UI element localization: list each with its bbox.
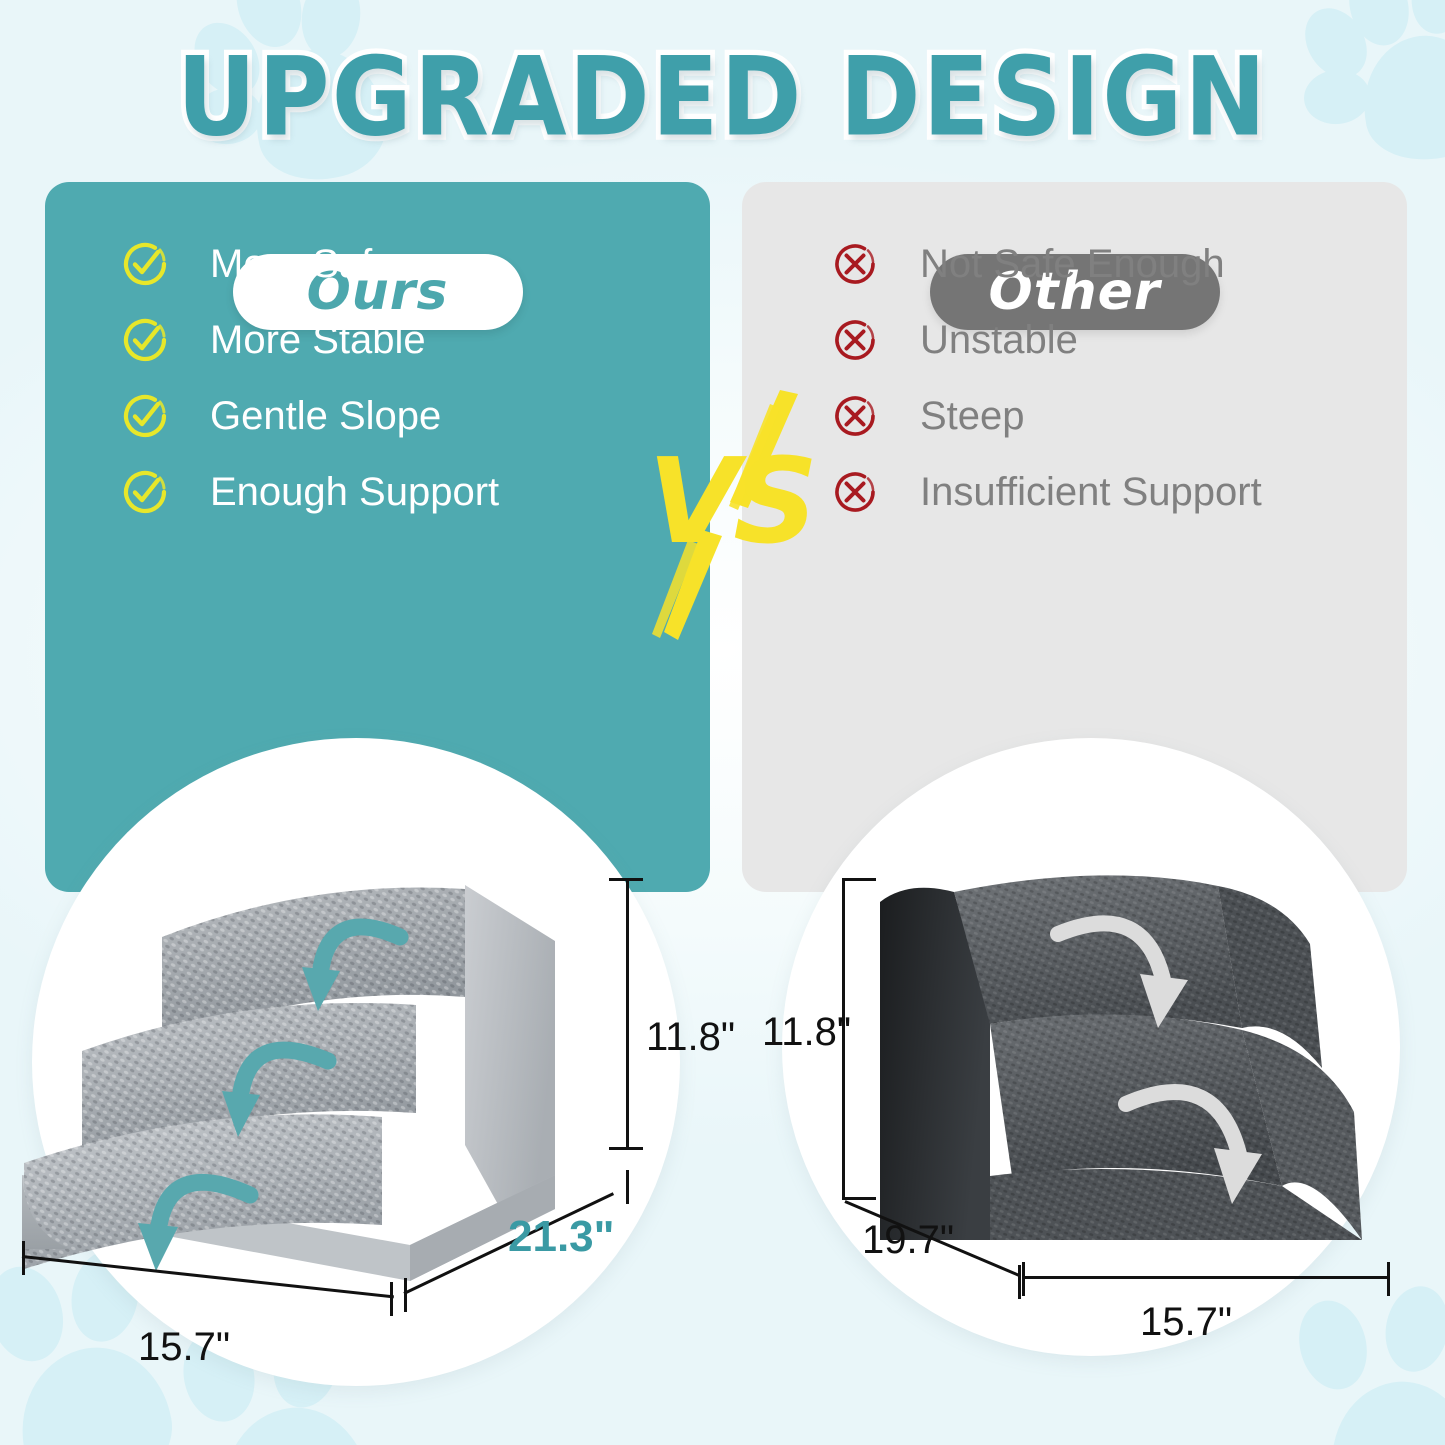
dimension-tick	[390, 1282, 393, 1316]
feature-item-not-safe-enough: Not Safe Enough	[830, 238, 1262, 290]
cross-circle-icon	[830, 239, 880, 289]
check-circle-icon	[120, 315, 170, 365]
feature-label: Gentle Slope	[210, 394, 441, 439]
dimension-label-width-ours: 15.7"	[138, 1325, 230, 1370]
dimension-tick	[1022, 1262, 1025, 1296]
dimension-label-width-other: 15.7"	[1140, 1300, 1232, 1345]
dimension-label-depth-ours: 21.3"	[508, 1212, 615, 1262]
feature-label: More Safe	[210, 242, 395, 287]
dimension-rule-width-other	[1022, 1276, 1390, 1279]
dimension-tick	[1387, 1262, 1390, 1296]
infographic-canvas: UPGRADED DESIGN Ours More Safe	[0, 0, 1445, 1445]
dimension-tick	[22, 1241, 25, 1275]
feature-item-more-safe: More Safe	[120, 238, 499, 290]
cross-circle-icon	[830, 391, 880, 441]
feature-label: Steep	[920, 394, 1025, 439]
paw-print-decoration-bottom-right	[1270, 1290, 1445, 1445]
feature-label: Enough Support	[210, 470, 499, 515]
feature-list-other: Not Safe Enough Unstable Steep	[830, 238, 1262, 518]
dimension-tick	[842, 1197, 876, 1200]
cross-circle-icon	[830, 315, 880, 365]
dimension-tick	[626, 1170, 629, 1204]
feature-label: More Stable	[210, 318, 426, 363]
dimension-tick	[404, 1278, 407, 1312]
dimension-label-height-ours: 11.8"	[646, 1015, 735, 1060]
feature-item-gentle-slope: Gentle Slope	[120, 390, 499, 442]
feature-item-unstable: Unstable	[830, 314, 1262, 366]
dimension-label-height-other: 11.8"	[762, 1010, 851, 1055]
dimension-tick	[609, 1147, 643, 1150]
dimension-tick	[1018, 1265, 1021, 1299]
dimension-label-depth-other: 19.7"	[862, 1218, 954, 1263]
feature-label: Not Safe Enough	[920, 242, 1225, 287]
dimension-tick	[609, 878, 643, 881]
feature-item-steep: Steep	[830, 390, 1262, 442]
check-circle-icon	[120, 391, 170, 441]
feature-label: Insufficient Support	[920, 470, 1262, 515]
check-circle-icon	[120, 239, 170, 289]
check-circle-icon	[120, 467, 170, 517]
dimension-tick	[842, 878, 876, 881]
feature-item-more-stable: More Stable	[120, 314, 499, 366]
feature-item-enough-support: Enough Support	[120, 466, 499, 518]
feature-label: Unstable	[920, 318, 1078, 363]
feature-list-ours: More Safe More Stable Gentle Slope	[120, 238, 499, 518]
dimension-rule-height-ours	[626, 878, 629, 1150]
page-title: UPGRADED DESIGN	[0, 34, 1445, 160]
cross-circle-icon	[830, 467, 880, 517]
feature-item-insufficient-support: Insufficient Support	[830, 466, 1262, 518]
